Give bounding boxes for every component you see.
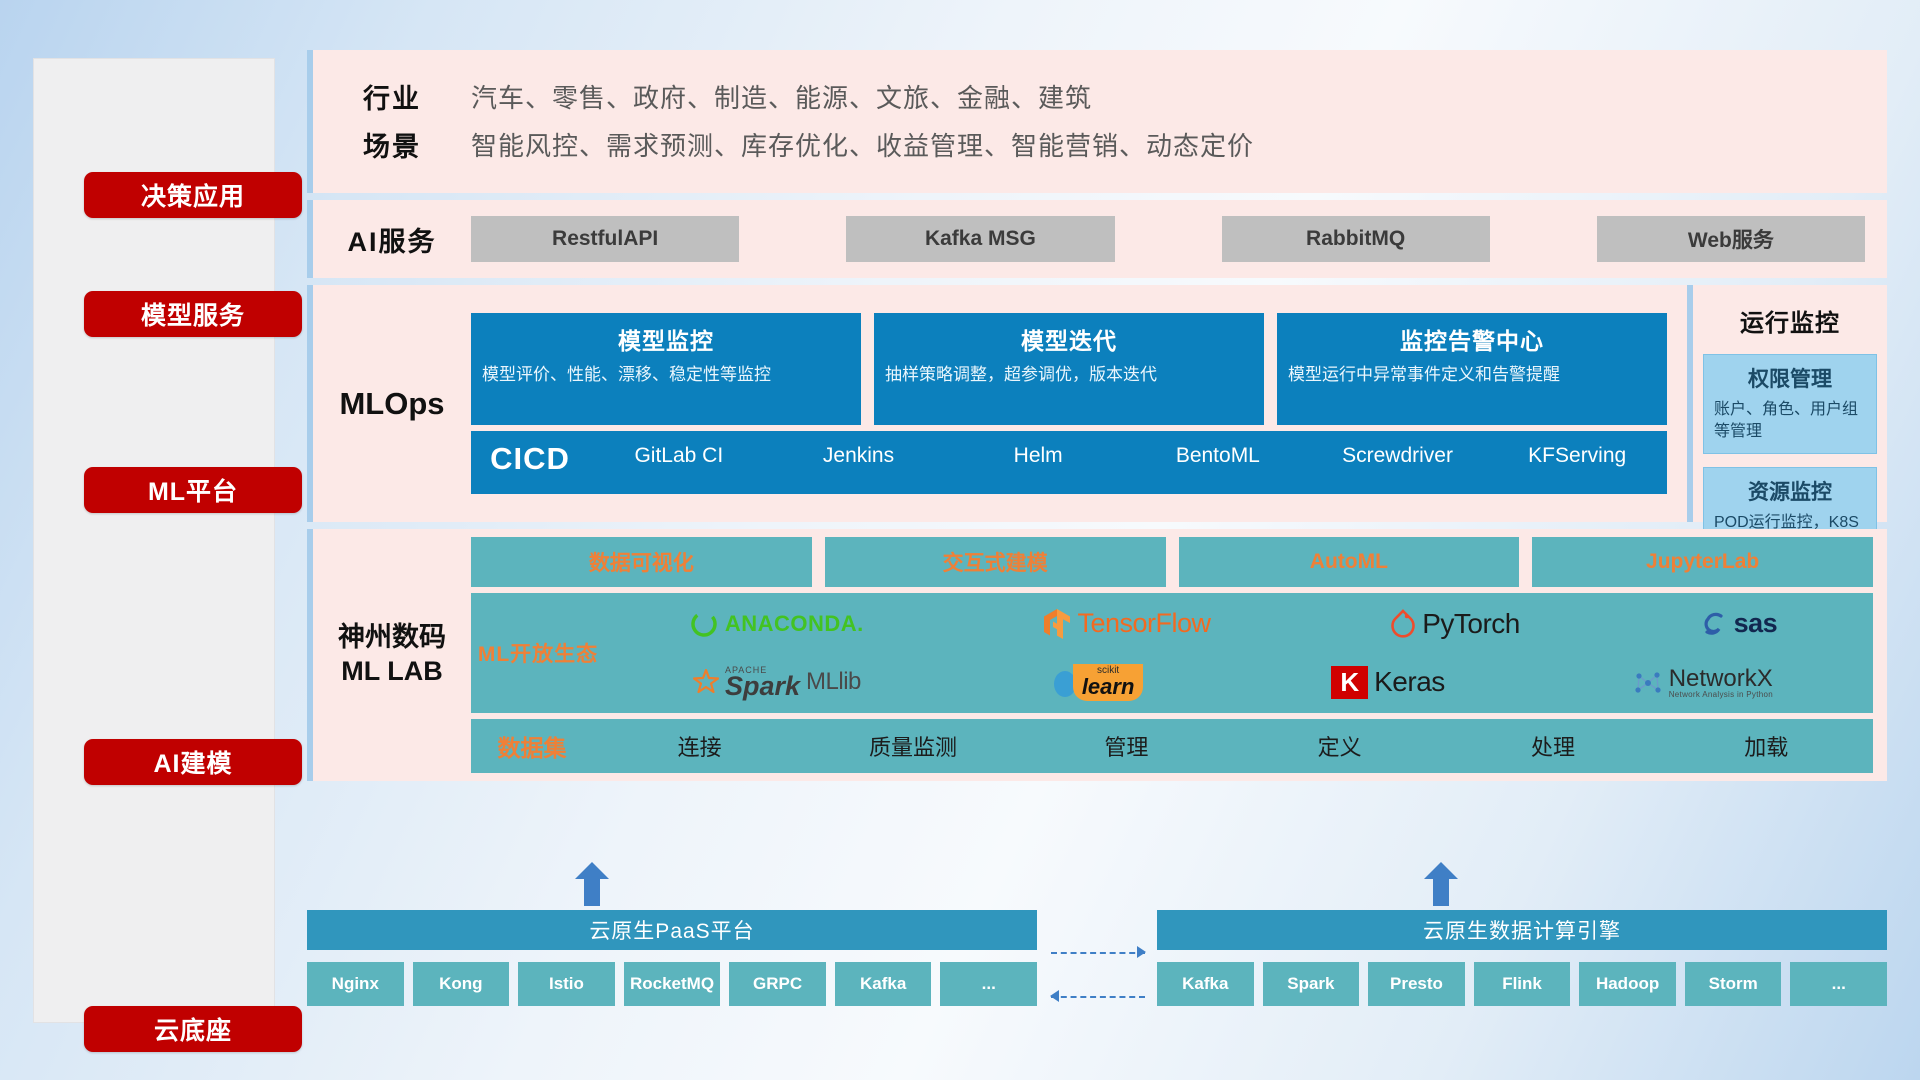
- scenario-label: 场景: [313, 125, 471, 164]
- card-desc: 抽样策略调整，超参调优，版本迭代: [885, 364, 1253, 387]
- mlops-card-list: 模型监控 模型评价、性能、漂移、稳定性等监控 模型迭代 抽样策略调整，超参调优，…: [471, 313, 1667, 425]
- ml-lab-band: 神州数码 ML LAB 数据可视化 交互式建模 AutoML JupyterLa…: [307, 529, 1887, 781]
- lab-tool-data-visualization[interactable]: 数据可视化: [471, 537, 812, 587]
- rail-item-label: 决策应用: [141, 177, 245, 213]
- arrowhead-right-icon: [1137, 946, 1146, 958]
- lab-tool-jupyterlab[interactable]: JupyterLab: [1532, 537, 1873, 587]
- networkx-tagline: Network Analysis in Python: [1669, 691, 1773, 699]
- rail-item-model-service[interactable]: 模型服务: [84, 291, 302, 337]
- dataset-item-manage[interactable]: 管理: [1020, 730, 1233, 762]
- dataset-label: 数据集: [471, 729, 593, 763]
- dataset-item-process[interactable]: 处理: [1446, 730, 1659, 762]
- rail-item-cloud-base[interactable]: 云底座: [84, 1006, 302, 1052]
- keras-logo-text: Keras: [1374, 666, 1445, 698]
- monitoring-card-permissions[interactable]: 权限管理 账户、角色、用户组等管理: [1703, 354, 1877, 454]
- industry-label: 行业: [313, 77, 471, 116]
- lab-tool-automl[interactable]: AutoML: [1179, 537, 1520, 587]
- chip-grpc[interactable]: GRPC: [729, 962, 826, 1006]
- rail-item-label: 模型服务: [141, 296, 245, 332]
- ai-services-list: RestfulAPI Kafka MSG RabbitMQ Web服务: [471, 216, 1887, 262]
- card-desc: 模型评价、性能、漂移、稳定性等监控: [482, 364, 850, 387]
- ai-service-kafka-msg[interactable]: Kafka MSG: [846, 216, 1114, 262]
- cicd-tool-gitlab-ci[interactable]: GitLab CI: [589, 441, 769, 471]
- tensorflow-logo-text: TensorFlow: [1077, 608, 1210, 639]
- chip-hadoop[interactable]: Hadoop: [1579, 962, 1676, 1006]
- monitoring-title: 运行监控: [1703, 303, 1877, 338]
- main-stack: 行业 汽车、零售、政府、制造、能源、文旅、金融、建筑 场景 智能风控、需求预测、…: [307, 50, 1887, 781]
- card-desc: 账户、角色、用户组等管理: [1714, 399, 1866, 442]
- chip-kafka-paas[interactable]: Kafka: [835, 962, 932, 1006]
- pytorch-logo-text: PyTorch: [1422, 608, 1520, 640]
- ecosystem-logo-row-2: APACHE Spark MLlib: [599, 655, 1867, 711]
- ml-lab-label: 神州数码 ML LAB: [313, 621, 471, 689]
- rail-item-label: AI建模: [153, 744, 232, 780]
- scenario-row: 场景 智能风控、需求预测、库存优化、收益管理、智能营销、动态定价: [313, 120, 1887, 168]
- sas-mark-icon: [1700, 610, 1728, 638]
- rail-item-ai-modeling[interactable]: AI建模: [84, 739, 302, 785]
- lab-tool-interactive-modeling[interactable]: 交互式建模: [825, 537, 1166, 587]
- ml-lab-label-line1: 神州数码: [313, 621, 471, 655]
- architecture-diagram: 决策应用 模型服务 ML平台 AI建模 云底座 行业 汽车、零售、政府、制造、能…: [0, 0, 1920, 1080]
- bidirectional-link: [1051, 942, 1145, 1014]
- card-title: 模型迭代: [885, 322, 1253, 356]
- chip-presto[interactable]: Presto: [1368, 962, 1465, 1006]
- mlops-card-model-iteration[interactable]: 模型迭代 抽样策略调整，超参调优，版本迭代: [874, 313, 1264, 425]
- ai-service-restfulapi[interactable]: RestfulAPI: [471, 216, 739, 262]
- learn-text: learn: [1082, 676, 1135, 698]
- ml-open-ecosystem-bar: ML开放生态 ANACONDA.: [471, 593, 1873, 713]
- left-layer-rail: 决策应用 模型服务 ML平台 AI建模 云底座: [33, 58, 275, 1023]
- arrowhead-left-icon: [1050, 990, 1059, 1002]
- chip-more-paas[interactable]: ...: [940, 962, 1037, 1006]
- networkx-logo: NetworkX Network Analysis in Python: [1633, 667, 1773, 699]
- chip-rocketmq[interactable]: RocketMQ: [624, 962, 721, 1006]
- dashed-line-left: [1051, 996, 1145, 998]
- dataset-item-define[interactable]: 定义: [1233, 730, 1446, 762]
- chip-storm[interactable]: Storm: [1685, 962, 1782, 1006]
- applications-band: 行业 汽车、零售、政府、制造、能源、文旅、金融、建筑 场景 智能风控、需求预测、…: [307, 50, 1887, 193]
- ecosystem-logo-row-1: ANACONDA. TensorFlow: [599, 596, 1867, 652]
- pytorch-logo: PyTorch: [1390, 608, 1520, 640]
- industry-value: 汽车、零售、政府、制造、能源、文旅、金融、建筑: [471, 78, 1092, 115]
- ai-service-web[interactable]: Web服务: [1597, 216, 1865, 262]
- anaconda-logo: ANACONDA.: [689, 609, 864, 639]
- cicd-bar: CICD GitLab CI Jenkins Helm BentoML Scre…: [471, 431, 1667, 494]
- ecosystem-logo-grid: ANACONDA. TensorFlow: [599, 596, 1867, 711]
- chip-spark[interactable]: Spark: [1263, 962, 1360, 1006]
- networkx-wordmark: NetworkX Network Analysis in Python: [1669, 667, 1773, 699]
- spark-star-icon: [693, 669, 719, 695]
- ml-lab-label-line2: ML LAB: [313, 655, 471, 689]
- dataset-item-load[interactable]: 加载: [1660, 730, 1873, 762]
- cicd-tool-bentoml[interactable]: BentoML: [1128, 441, 1308, 471]
- card-title: 权限管理: [1714, 363, 1866, 393]
- mlops-section: MLOps 模型监控 模型评价、性能、漂移、稳定性等监控 模型迭代 抽样策略调整…: [313, 285, 1681, 522]
- keras-logo: K Keras: [1331, 666, 1444, 700]
- pytorch-mark-icon: [1390, 609, 1416, 639]
- cicd-tool-helm[interactable]: Helm: [948, 441, 1128, 471]
- industry-row: 行业 汽车、零售、政府、制造、能源、文旅、金融、建筑: [313, 72, 1887, 120]
- dataset-item-list: 连接 质量监测 管理 定义 处理 加载: [593, 730, 1873, 762]
- up-arrow-data-engine-icon: [1424, 862, 1458, 906]
- ml-lab-tool-list: 数据可视化 交互式建模 AutoML JupyterLab: [471, 537, 1873, 587]
- card-desc: 模型运行中异常事件定义和告警提醒: [1288, 364, 1656, 387]
- spark-logo-text: Spark: [725, 675, 800, 698]
- ml-lab-content: 数据可视化 交互式建模 AutoML JupyterLab ML开放生态: [471, 537, 1887, 773]
- scikit-learn-badge: scikit learn: [1073, 664, 1144, 701]
- mlops-content: 模型监控 模型评价、性能、漂移、稳定性等监控 模型迭代 抽样策略调整，超参调优，…: [471, 313, 1681, 494]
- ai-services-band: AI服务 RestfulAPI Kafka MSG RabbitMQ Web服务: [307, 200, 1887, 278]
- chip-kong[interactable]: Kong: [413, 962, 510, 1006]
- ecosystem-label: ML开放生态: [477, 638, 599, 668]
- cicd-tool-screwdriver[interactable]: Screwdriver: [1308, 441, 1488, 471]
- dataset-item-quality[interactable]: 质量监测: [806, 730, 1019, 762]
- mllib-text: MLlib: [806, 668, 861, 696]
- cloud-data-engine-group: 云原生数据计算引擎 Kafka Spark Presto Flink Hadoo…: [1157, 910, 1887, 1006]
- card-title: 资源监控: [1714, 476, 1866, 506]
- rail-item-label: 云底座: [154, 1011, 232, 1047]
- networkx-graph-icon: [1633, 668, 1663, 698]
- sas-logo-text: sas: [1734, 608, 1778, 639]
- ml-lab-section: 神州数码 ML LAB 数据可视化 交互式建模 AutoML JupyterLa…: [313, 529, 1887, 781]
- up-arrow-paas-icon: [575, 862, 609, 906]
- chip-istio[interactable]: Istio: [518, 962, 615, 1006]
- scikit-learn-logo: scikit learn: [1049, 664, 1144, 701]
- ai-service-rabbitmq[interactable]: RabbitMQ: [1222, 216, 1490, 262]
- monitoring-panel: 运行监控 权限管理 账户、角色、用户组等管理 资源监控 POD运行监控，K8S资…: [1687, 285, 1887, 522]
- ai-services-label: AI服务: [313, 220, 471, 259]
- chip-nginx[interactable]: Nginx: [307, 962, 404, 1006]
- dashed-line-right: [1051, 952, 1145, 954]
- card-title: 模型监控: [482, 322, 850, 356]
- chip-more-engine[interactable]: ...: [1790, 962, 1887, 1006]
- dataset-item-connect[interactable]: 连接: [593, 730, 806, 762]
- cicd-tool-list: GitLab CI Jenkins Helm BentoML Screwdriv…: [589, 441, 1667, 471]
- spark-wordmark: APACHE Spark: [725, 667, 800, 698]
- rail-item-label: ML平台: [148, 472, 238, 508]
- cicd-tool-kfserving[interactable]: KFServing: [1487, 441, 1667, 471]
- anaconda-logo-text: ANACONDA.: [725, 611, 864, 637]
- anaconda-mark-icon: [689, 609, 719, 639]
- cloud-base-layer: 云原生PaaS平台 Nginx Kong Istio RocketMQ GRPC…: [307, 898, 1887, 1058]
- chip-flink[interactable]: Flink: [1474, 962, 1571, 1006]
- sas-logo: sas: [1700, 608, 1778, 639]
- cloud-paas-chip-list: Nginx Kong Istio RocketMQ GRPC Kafka ...: [307, 962, 1037, 1006]
- cloud-paas-group: 云原生PaaS平台 Nginx Kong Istio RocketMQ GRPC…: [307, 910, 1037, 1006]
- mlops-card-model-monitoring[interactable]: 模型监控 模型评价、性能、漂移、稳定性等监控: [471, 313, 861, 425]
- networkx-logo-text: NetworkX: [1669, 667, 1773, 691]
- dataset-bar: 数据集 连接 质量监测 管理 定义 处理 加载: [471, 719, 1873, 773]
- tensorflow-mark-icon: [1043, 608, 1071, 640]
- cloud-paas-title: 云原生PaaS平台: [307, 910, 1037, 950]
- rail-item-decision-apps[interactable]: 决策应用: [84, 172, 302, 218]
- chip-kafka-engine[interactable]: Kafka: [1157, 962, 1254, 1006]
- scenario-value: 智能风控、需求预测、库存优化、收益管理、智能营销、动态定价: [471, 126, 1254, 163]
- mlops-band: MLOps 模型监控 模型评价、性能、漂移、稳定性等监控 模型迭代 抽样策略调整…: [307, 285, 1887, 522]
- tensorflow-logo: TensorFlow: [1043, 608, 1210, 640]
- mlops-card-alert-center[interactable]: 监控告警中心 模型运行中异常事件定义和告警提醒: [1277, 313, 1667, 425]
- mlops-label: MLOps: [313, 386, 471, 422]
- card-title: 监控告警中心: [1288, 322, 1656, 356]
- cloud-data-engine-title: 云原生数据计算引擎: [1157, 910, 1887, 950]
- spark-mllib-logo: APACHE Spark MLlib: [693, 667, 861, 698]
- keras-mark-icon: K: [1331, 666, 1368, 700]
- cicd-tool-jenkins[interactable]: Jenkins: [769, 441, 949, 471]
- rail-item-ml-platform[interactable]: ML平台: [84, 467, 302, 513]
- cicd-label: CICD: [471, 441, 589, 477]
- cloud-data-engine-chip-list: Kafka Spark Presto Flink Hadoop Storm ..…: [1157, 962, 1887, 1006]
